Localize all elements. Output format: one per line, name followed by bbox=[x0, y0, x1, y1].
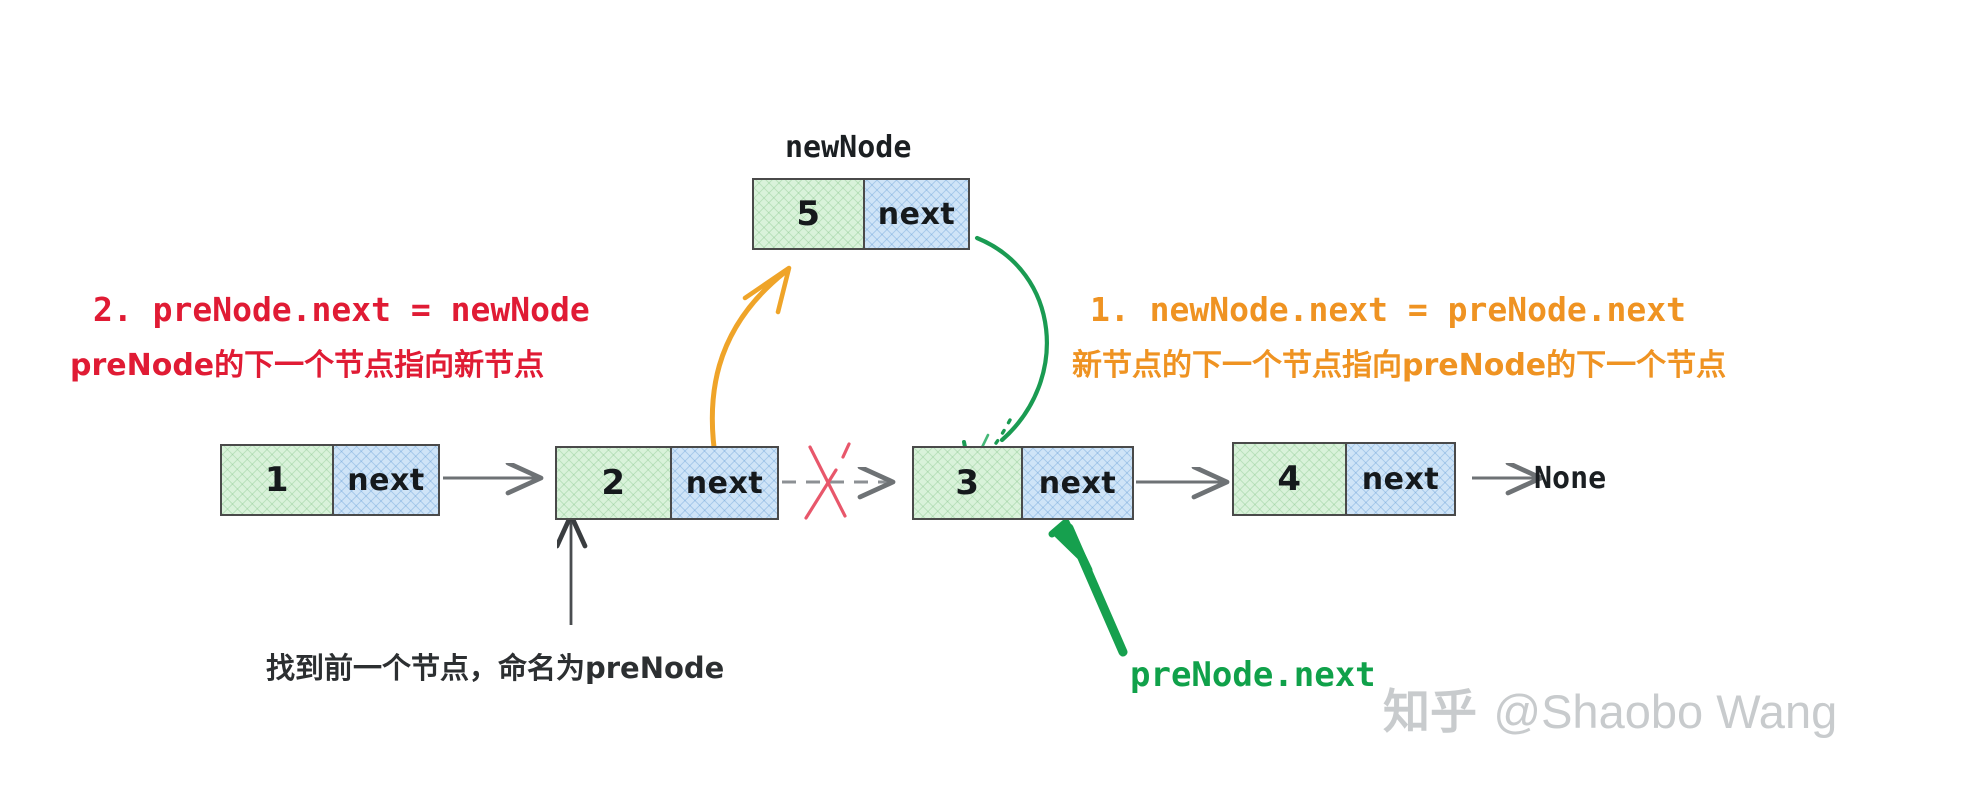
node-2-next[interactable]: next bbox=[671, 446, 779, 520]
watermark: 知乎 @Shaobo Wang bbox=[1383, 673, 1837, 742]
node-1-next[interactable]: next bbox=[333, 444, 440, 516]
node-1-value: 1 bbox=[220, 444, 333, 516]
newnode-title-label: newNode bbox=[785, 130, 911, 165]
node-3-value: 3 bbox=[912, 446, 1022, 520]
watermark-site-name: 知乎 bbox=[1383, 685, 1493, 740]
arrow-caption-to-node3 bbox=[1052, 522, 1123, 652]
arrow-prenode-next-to-newnode bbox=[712, 268, 789, 462]
annotation-step1-code: 1. newNode.next = preNode.next bbox=[1090, 290, 1686, 329]
annotation-step2-code: 2. preNode.next = newNode bbox=[93, 290, 590, 329]
node-4-next[interactable]: next bbox=[1346, 442, 1456, 516]
node-newnode[interactable]: 5 next bbox=[752, 178, 970, 250]
node-3-next[interactable]: next bbox=[1022, 446, 1134, 520]
arrow-newnode-next-to-node3 bbox=[964, 238, 1047, 472]
node-2-prenode[interactable]: 2 next bbox=[555, 446, 779, 520]
annotation-step1-chinese: 新节点的下一个节点指向preNode的下一个节点 bbox=[1072, 340, 1726, 384]
annotation-step2-chinese: preNode的下一个节点指向新节点 bbox=[70, 340, 544, 384]
none-terminator-label: None bbox=[1534, 461, 1606, 496]
node-4-value: 4 bbox=[1232, 442, 1346, 516]
node-4[interactable]: 4 next bbox=[1232, 442, 1456, 516]
watermark-handle: @Shaobo Wang bbox=[1493, 685, 1837, 738]
annotation-prenode-next: preNode.next bbox=[1130, 655, 1376, 695]
annotation-prenode-caption: 找到前一个节点，命名为preNode bbox=[266, 645, 724, 687]
node-1[interactable]: 1 next bbox=[220, 444, 440, 516]
node-newnode-next[interactable]: next bbox=[864, 178, 970, 250]
node-2-value: 2 bbox=[555, 446, 671, 520]
node-3[interactable]: 3 next bbox=[912, 446, 1134, 520]
node-newnode-value: 5 bbox=[752, 178, 864, 250]
